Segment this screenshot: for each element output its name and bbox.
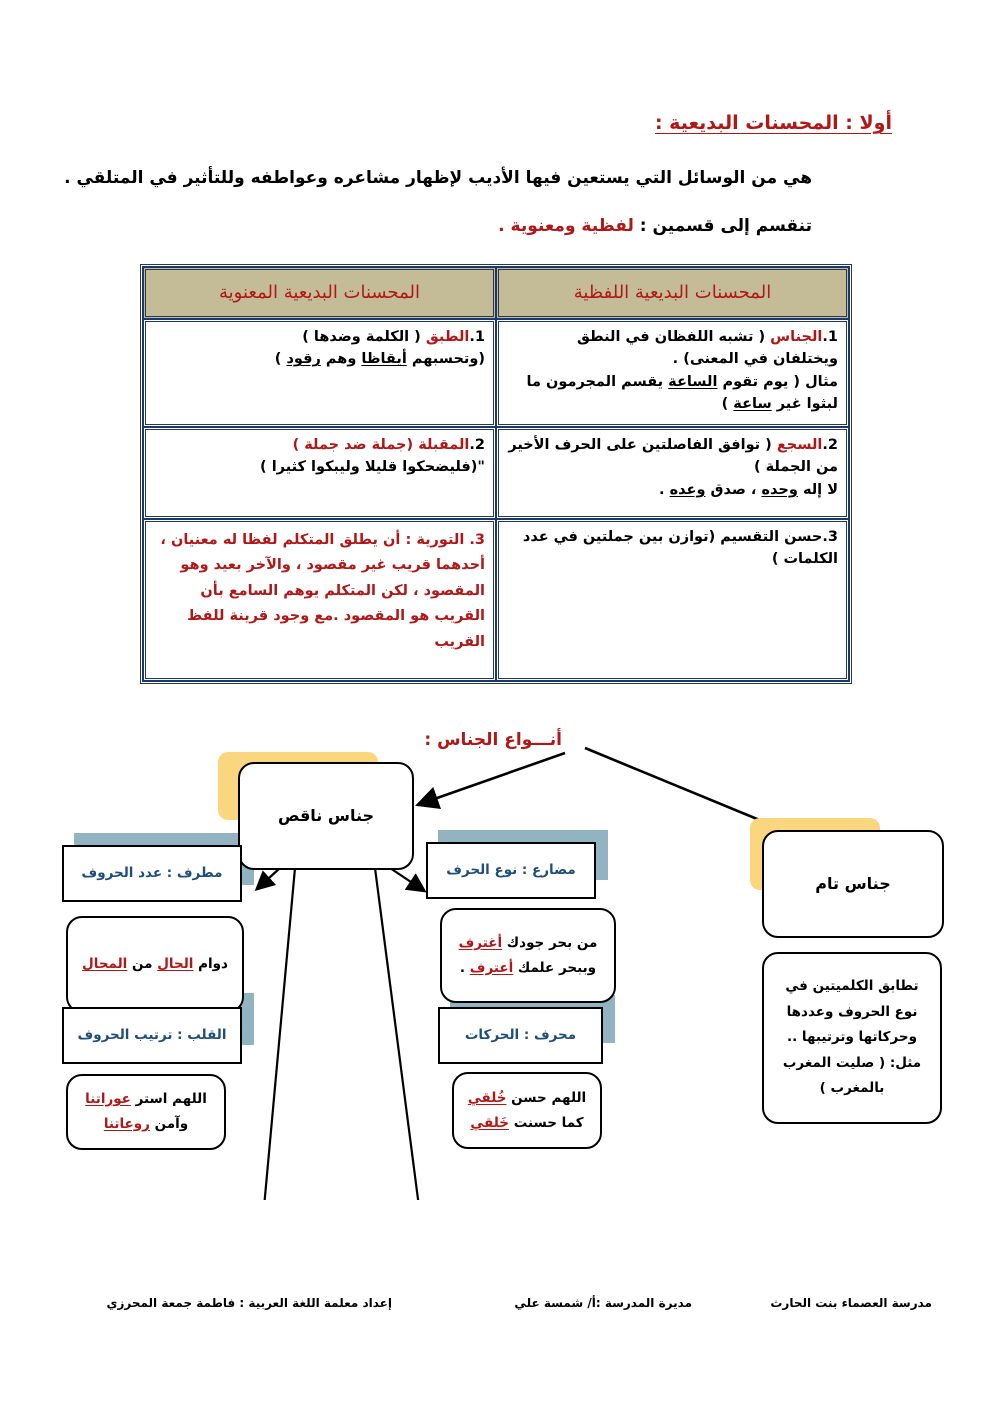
tibaq-term: الطبق <box>426 329 470 345</box>
tawriya-term: التورية <box>416 532 464 548</box>
example-muharraf-text: اللهم حسن خُلقي كما حسنت خَلقي <box>458 1080 596 1142</box>
jinas-example-word1: الساعة <box>668 374 717 390</box>
intro-division: تنقسم إلى قسمين : لفظية ومعنوية . <box>498 216 812 236</box>
node-jinas-tam[interactable]: جناس تام <box>762 830 944 938</box>
mudari-ex-line2-pre: وببحر علمك <box>513 960 596 976</box>
jinas-number: 1. <box>822 329 838 345</box>
edge-naqis-to-muharraf <box>375 868 432 1200</box>
example-mudari-text: من بحر جودك أغترف وببحر علمك أعترف . <box>449 925 608 987</box>
footer-principal: مديرة المدرسة :أ/ شمسة علي <box>514 1296 692 1310</box>
mutarraf-ex-pre: دوام <box>193 956 228 972</box>
node-jinas-naqis[interactable]: جناس ناقص <box>238 762 414 870</box>
saja-example-end: . <box>659 482 670 498</box>
tibaq-body: ( الكلمة وضدها ) <box>302 329 421 345</box>
intro-definition: هي من الوسائل التي يستعين فيها الأديب لإ… <box>64 168 812 188</box>
qalb-ex-line1-word: عوراتنا <box>85 1091 131 1107</box>
muharraf-ex-line1-word: خُلقي <box>468 1090 507 1106</box>
example-mutarraf-text: دوام الحال من المحال <box>72 946 238 983</box>
cell-saja: 2.السجع ( توافق الفاصلتين على الحرف الأخ… <box>496 427 849 519</box>
qalb-ex-line2-pre: وآمن <box>150 1116 188 1132</box>
mudari-ex-line1-word: أغترف <box>459 935 502 951</box>
saja-example-pre: لا إله <box>798 482 838 498</box>
muqabala-body: (جملة ضد جملة ) <box>293 437 414 453</box>
tibaq-example-pre: (وتحسبهم <box>407 351 485 367</box>
tam-example-pre: مثل: ( صليت <box>831 1055 921 1071</box>
jinas-example-end: ) <box>722 396 734 412</box>
tam-example-end: ) <box>820 1080 831 1096</box>
node-mudari[interactable]: مضارع : نوع الحرف <box>426 842 596 899</box>
example-qalb: اللهم استر عوراتنا وآمن روعاتنا <box>66 1074 226 1150</box>
muharraf-ex-line2-pre: كما حسنت <box>509 1115 584 1131</box>
table-row: 2.السجع ( توافق الفاصلتين على الحرف الأخ… <box>143 427 849 519</box>
cell-tibaq: 1.الطبق ( الكلمة وضدها ) (وتحسبهم أيقاظا… <box>143 319 496 427</box>
tibaq-example-mid: وهم <box>321 351 362 367</box>
mutarraf-ex-word2: المحال <box>82 956 127 972</box>
muqabala-example: "(فليضحكوا قليلا وليبكوا كثيرا ) <box>260 459 485 475</box>
saja-example-mid: ، صدق <box>705 482 761 498</box>
jinas-types-diagram: أنـــواع الجناس : جناس ناقص جناس تام مطر… <box>0 690 992 1200</box>
example-qalb-text: اللهم استر عوراتنا وآمن روعاتنا <box>75 1081 217 1143</box>
mutarraf-ex-word1: الحال <box>157 956 193 972</box>
tibaq-example-word2: رقود <box>286 351 320 367</box>
node-muharraf[interactable]: محرف : الحركات <box>438 1007 603 1064</box>
edge-naqis-to-mutarraf <box>258 868 280 888</box>
edge-naqis-to-mudari <box>390 868 423 890</box>
badie-table-wrapper: المحسنات البديعية اللفظية المحسنات البدي… <box>140 264 852 684</box>
node-mutarraf-label: مطرف : عدد الحروف <box>82 863 223 883</box>
jinas-term: الجناس <box>770 329 822 345</box>
page-footer: مدرسة العصماء بنت الحارث مديرة المدرسة :… <box>0 1296 992 1336</box>
cell-husn-taqsim: 3.حسن التقسيم (توازن بين جملتين في عدد ا… <box>496 519 849 681</box>
tam-example-word2: بالمغرب <box>831 1080 885 1096</box>
node-jinas-naqis-label: جناس ناقص <box>278 804 374 828</box>
husn-number: 3. <box>822 529 838 545</box>
mudari-ex-line2-end: . <box>460 960 470 976</box>
cell-muqabala: 2.المقبلة (جملة ضد جملة ) "(فليضحكوا قلي… <box>143 427 496 519</box>
document-page: أولا : المحسنات البديعية : هي من الوسائل… <box>0 0 992 1403</box>
muharraf-ex-line2-word: خَلقي <box>470 1115 509 1131</box>
example-muharraf: اللهم حسن خُلقي كما حسنت خَلقي <box>452 1072 602 1149</box>
page-title: أولا : المحسنات البديعية : <box>655 112 892 134</box>
description-jinas-tam: تطابق الكلميتين في نوع الحروف وعددها وحر… <box>762 952 942 1124</box>
node-mutarraf[interactable]: مطرف : عدد الحروف <box>62 845 242 902</box>
example-mutarraf: دوام الحال من المحال <box>66 916 244 1013</box>
qalb-ex-line2-word: روعاتنا <box>104 1116 150 1132</box>
table-row: 3.حسن التقسيم (توازن بين جملتين في عدد ا… <box>143 519 849 681</box>
cell-tawriya: 3. التورية : أن يطلق المتكلم لفظا له معن… <box>143 519 496 681</box>
tibaq-example-word1: أيقاظا <box>361 351 406 367</box>
jinas-example-pre: مثال ( يوم تقوم <box>717 374 838 390</box>
mutarraf-ex-mid: من <box>127 956 157 972</box>
tibaq-number: 1. <box>469 329 485 345</box>
badie-table: المحسنات البديعية اللفظية المحسنات البدي… <box>143 267 849 681</box>
saja-number: 2. <box>822 437 838 453</box>
footer-school: مدرسة العصماء بنت الحارث <box>770 1296 932 1310</box>
node-qalb-label: القلب : ترتيب الحروف <box>78 1025 227 1045</box>
tibaq-example-end: ) <box>275 351 287 367</box>
table-header-verbal: المحسنات البديعية اللفظية <box>496 267 849 319</box>
description-jinas-tam-text: تطابق الكلميتين في نوع الحروف وعددها وحر… <box>773 966 931 1110</box>
tawriya-number: 3. <box>469 532 485 548</box>
table-header-row: المحسنات البديعية اللفظية المحسنات البدي… <box>143 267 849 319</box>
muqabala-number: 2. <box>469 437 485 453</box>
table-header-semantic: المحسنات البديعية المعنوية <box>143 267 496 319</box>
muharraf-ex-line1-pre: اللهم حسن <box>506 1090 586 1106</box>
tam-example-word1: المغرب <box>783 1055 831 1071</box>
mudari-ex-line1-pre: من بحر جودك <box>502 935 597 951</box>
saja-example-word2: وعده <box>670 482 706 498</box>
muqabala-term: المقبلة <box>418 437 469 453</box>
tawriya-body: : أن يطلق المتكلم لفظا له معنيان ، أحدهم… <box>160 532 485 650</box>
husn-term: حسن التقسيم <box>720 529 822 545</box>
edge-title-to-naqis <box>420 753 565 804</box>
cell-jinas: 1.الجناس ( تشبه اللفظان في النطق ويختلفا… <box>496 319 849 427</box>
node-mudari-label: مضارع : نوع الحرف <box>446 860 575 880</box>
tam-desc-line1: تطابق الكلميتين في <box>785 978 918 994</box>
tam-desc-line2: نوع الحروف وعددها <box>787 1004 918 1020</box>
intro-division-value: لفظية ومعنوية . <box>498 216 634 236</box>
saja-example-word1: وحده <box>761 482 797 498</box>
node-qalb[interactable]: القلب : ترتيب الحروف <box>62 1007 242 1064</box>
diagram-title: أنـــواع الجناس : <box>424 730 562 750</box>
mudari-ex-line2-word: أعترف <box>470 960 513 976</box>
node-muharraf-label: محرف : الحركات <box>465 1025 576 1045</box>
qalb-ex-line1-pre: اللهم استر <box>131 1091 207 1107</box>
node-jinas-tam-label: جناس تام <box>815 872 890 896</box>
edge-naqis-to-qalb <box>254 868 295 1200</box>
saja-term: السجع <box>777 437 823 453</box>
jinas-example-word2: ساعة <box>733 396 771 412</box>
footer-teacher: إعداد معلمة اللغة العربية : فاطمة جمعة ا… <box>106 1296 392 1310</box>
tam-desc-line3: وحركاتها وترتيبها .. <box>787 1029 917 1045</box>
table-row: 1.الجناس ( تشبه اللفظان في النطق ويختلفا… <box>143 319 849 427</box>
intro-division-prefix: تنقسم إلى قسمين : <box>634 216 812 236</box>
example-mudari: من بحر جودك أغترف وببحر علمك أعترف . <box>440 908 616 1003</box>
